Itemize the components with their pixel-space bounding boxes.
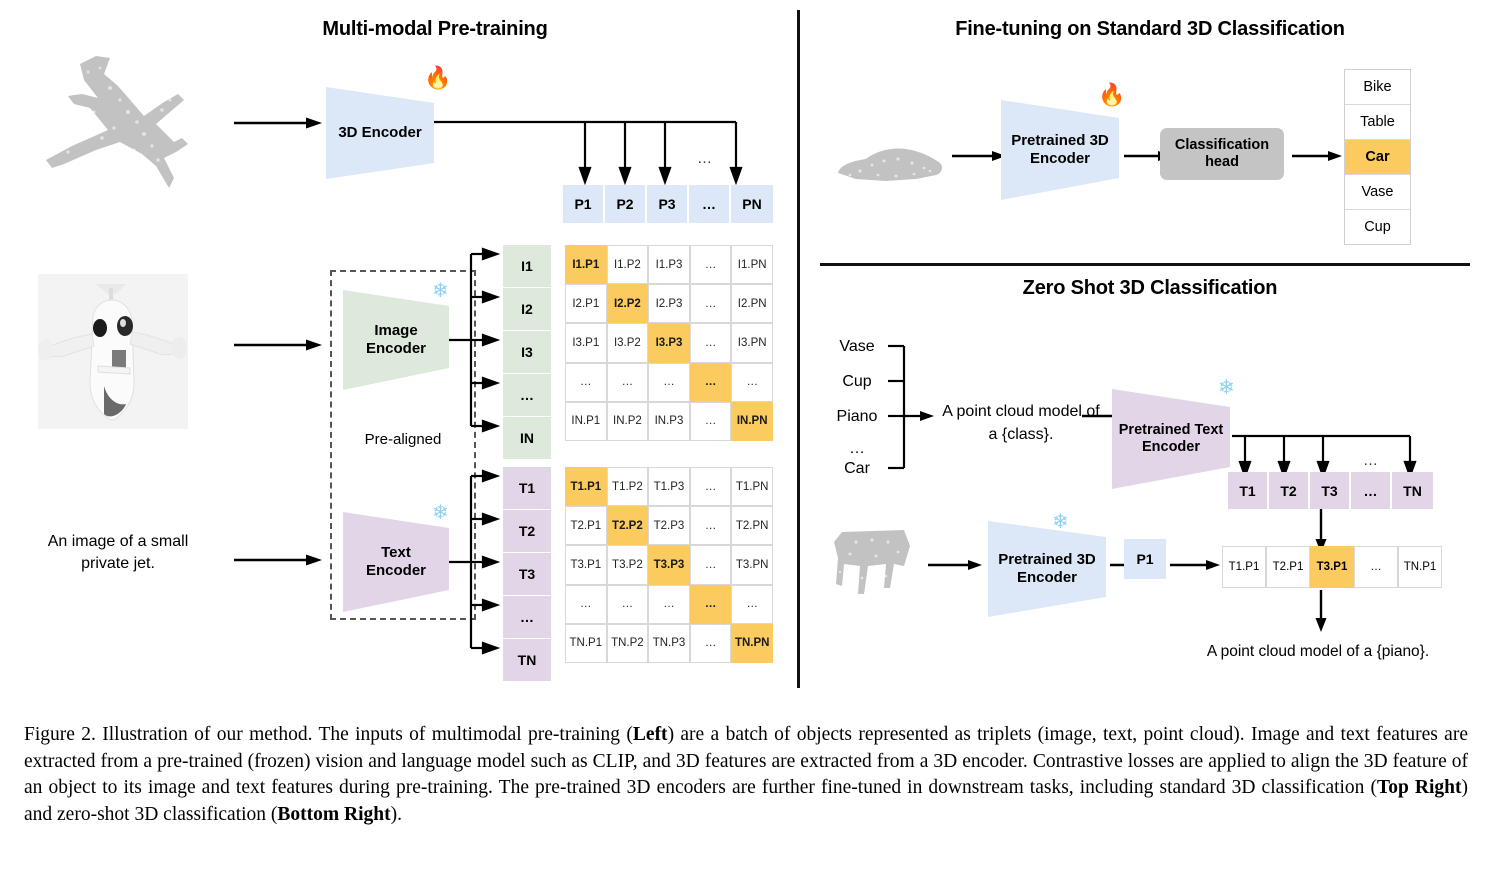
encoder-text-label-line2: Encoder	[366, 562, 426, 580]
text-point-similarity-matrix: T1.P1T1.P2T1.P3…T1.PNT2.P1T2.P2T2.P3…T2.…	[565, 467, 773, 663]
token-label-cell: T3	[503, 553, 551, 596]
matrix-cell: IN.P2	[607, 402, 649, 441]
class-list-item[interactable]: Table	[1345, 105, 1410, 140]
zeroshot-class-label: Piano	[826, 408, 888, 426]
token-label-cell: I2	[503, 288, 551, 331]
matrix-cell: I2.P2	[607, 284, 649, 323]
matrix-cell: I3.P1	[565, 323, 607, 362]
matrix-cell: …	[690, 363, 732, 402]
text-token-column: T1T2T3…TN	[503, 467, 551, 682]
score-cell: T1.P1	[1222, 546, 1266, 588]
zeroshot-class-label: Cup	[826, 373, 888, 391]
image-point-similarity-matrix: I1.P1I1.P2I1.P3…I1.PNI2.P1I2.P2I2.P3…I2.…	[565, 245, 773, 441]
figure-caption: Figure 2. Illustration of our method. Th…	[24, 722, 1468, 828]
classification-head-line1: Classification	[1175, 137, 1269, 154]
token-cell: T1	[1228, 472, 1269, 509]
zeroshot-class-label: Car	[826, 460, 888, 478]
flame-icon: 🔥	[424, 67, 451, 89]
arrow-head-to-classes	[1292, 148, 1344, 164]
matrix-cell: …	[690, 402, 732, 441]
classification-head: Classification head	[1160, 128, 1284, 180]
airplane-point-cloud	[24, 42, 224, 222]
matrix-cell: …	[731, 585, 773, 624]
matrix-cell: …	[565, 363, 607, 402]
encoder-image: Image Encoder	[343, 290, 449, 390]
matrix-cell: T1.P2	[607, 467, 649, 506]
matrix-cell: …	[690, 624, 732, 663]
score-cell: T3.P1	[1310, 546, 1354, 588]
token-cell: …	[689, 185, 731, 223]
matrix-cell: IN.PN	[731, 402, 773, 441]
matrix-cell: I1.P2	[607, 245, 649, 284]
matrix-cell: TN.PN	[731, 624, 773, 663]
pointcloud-token-row: P1P2P3…PN	[563, 185, 773, 223]
matrix-cell: T2.P2	[607, 506, 649, 545]
text-encoder-zs-line1: Pretrained Text	[1119, 422, 1224, 439]
matrix-cell: …	[690, 545, 732, 584]
matrix-cell: I3.PN	[731, 323, 773, 362]
text-input-caption: An image of a small private jet.	[28, 531, 208, 575]
caption-part-4: ).	[391, 804, 402, 825]
matrix-cell: I2.PN	[731, 284, 773, 323]
matrix-cell: …	[690, 245, 732, 284]
token-label-cell: T2	[503, 510, 551, 553]
matrix-cell: …	[690, 506, 732, 545]
matrix-cell: TN.P1	[565, 624, 607, 663]
caption-bold-bottom-right: Bottom Right	[277, 804, 390, 825]
token-cell: T2	[1269, 472, 1310, 509]
zeroshot-point-token: P1	[1124, 539, 1166, 579]
text-token-bus	[449, 470, 509, 642]
caption-part-1: Figure 2. Illustration of our method. Th…	[24, 724, 633, 745]
arrow-text-to-encoder	[234, 552, 324, 568]
matrix-cell: T1.P1	[565, 467, 607, 506]
matrix-cell: …	[690, 585, 732, 624]
prealigned-label: Pre-aligned	[342, 431, 464, 448]
caption-bold-left: Left	[633, 724, 668, 745]
zeroshot-result-text: A point cloud model of a {piano}.	[1158, 643, 1478, 661]
encoder-image-label-line1: Image	[366, 322, 426, 340]
token-label-cell: TN	[503, 639, 551, 682]
matrix-cell: T3.P3	[648, 545, 690, 584]
token-label-cell: IN	[503, 417, 551, 460]
arrow-p1-to-scores	[1170, 557, 1222, 573]
zeroshot-point-token-label: P1	[1136, 551, 1153, 567]
token-cell: …	[1351, 472, 1392, 509]
token-cell: TN	[1392, 472, 1433, 509]
matrix-cell: I3.P2	[607, 323, 649, 362]
matrix-cell: TN.P3	[648, 624, 690, 663]
left-panel-title: Multi-modal Pre-training	[210, 18, 660, 41]
matrix-cell: T2.P1	[565, 506, 607, 545]
arrow-car-to-encoder	[952, 148, 1008, 164]
zeroshot-score-row: T1.P1T2.P1T3.P1…TN.P1	[1222, 546, 1442, 588]
matrix-cell: IN.P3	[648, 402, 690, 441]
class-list-item[interactable]: Cup	[1345, 210, 1410, 244]
encoder-3d: 3D Encoder	[326, 87, 434, 179]
matrix-cell: T3.PN	[731, 545, 773, 584]
token-label-cell: …	[503, 596, 551, 639]
text-input-line2: private jet.	[28, 553, 208, 575]
image-token-bus	[449, 248, 509, 418]
figure-canvas: Multi-modal Pre-training 3D Encoder 🔥	[0, 0, 1490, 888]
arrow-pointcloud-to-encoder	[234, 115, 324, 131]
matrix-cell: …	[607, 363, 649, 402]
bottom-right-panel-title: Zero Shot 3D Classification	[850, 277, 1450, 300]
encoder-3d-label: 3D Encoder	[338, 124, 421, 141]
matrix-cell: …	[648, 585, 690, 624]
matrix-cell: …	[690, 467, 732, 506]
matrix-cell: IN.P1	[565, 402, 607, 441]
matrix-cell: I1.PN	[731, 245, 773, 284]
score-cell: TN.P1	[1398, 546, 1442, 588]
matrix-cell: …	[607, 585, 649, 624]
encoder-pretrained-3d-finetune: Pretrained 3D Encoder	[1001, 100, 1119, 200]
pointcloud-bus-ellipsis: …	[697, 150, 712, 167]
matrix-cell: T2.P3	[648, 506, 690, 545]
encoder-text: Text Encoder	[343, 512, 449, 612]
prompt-line2: a {class}.	[926, 423, 1116, 446]
token-label-cell: T1	[503, 467, 551, 510]
encoder-pretrained-text: Pretrained Text Encoder	[1112, 389, 1230, 489]
caption-bold-top-right: Top Right	[1377, 777, 1461, 798]
zeroshot-class-list: VaseCupPiano…Car	[826, 336, 888, 476]
matrix-cell: …	[690, 323, 732, 362]
matrix-cell: T3.P2	[607, 545, 649, 584]
matrix-cell: I1.P3	[648, 245, 690, 284]
panel-divider-horizontal	[820, 263, 1470, 266]
token-label-cell: I3	[503, 331, 551, 374]
zeroshot-class-label: Vase	[826, 338, 888, 356]
arrow-scores-to-result	[1313, 590, 1329, 634]
matrix-cell: T2.PN	[731, 506, 773, 545]
finetune-encoder-line1: Pretrained 3D	[1011, 132, 1109, 150]
class-list-item[interactable]: Bike	[1345, 70, 1410, 105]
jet-reference-image	[38, 274, 188, 429]
zeroshot-class-label: …	[826, 440, 888, 458]
arrow-image-to-encoder	[234, 337, 324, 353]
score-cell: …	[1354, 546, 1398, 588]
class-list-item[interactable]: Vase	[1345, 175, 1410, 210]
token-cell: P1	[563, 185, 605, 223]
piano-point-cloud	[828, 522, 920, 600]
zs-3d-encoder-line1: Pretrained 3D	[998, 551, 1096, 569]
token-cell: T3	[1310, 472, 1351, 509]
score-cell: T2.P1	[1266, 546, 1310, 588]
matrix-cell: T3.P1	[565, 545, 607, 584]
matrix-cell: …	[731, 363, 773, 402]
arrow-piano-to-encoder	[928, 557, 984, 573]
matrix-cell: …	[648, 363, 690, 402]
matrix-cell: T1.P3	[648, 467, 690, 506]
encoder-image-label-line2: Encoder	[366, 340, 426, 358]
matrix-cell: I2.P1	[565, 284, 607, 323]
finetune-encoder-line2: Encoder	[1011, 150, 1109, 168]
token-cell: PN	[731, 185, 773, 223]
token-label-cell: I1	[503, 245, 551, 288]
matrix-cell: I1.P1	[565, 245, 607, 284]
pointcloud-token-bus	[430, 118, 770, 188]
matrix-cell: …	[690, 284, 732, 323]
encoder-text-label-line1: Text	[366, 544, 426, 562]
token-cell: P3	[647, 185, 689, 223]
matrix-cell: I2.P3	[648, 284, 690, 323]
top-right-panel-title: Fine-tuning on Standard 3D Classificatio…	[850, 18, 1450, 41]
token-cell: P2	[605, 185, 647, 223]
image-token-column: I1I2I3…IN	[503, 245, 551, 460]
matrix-cell: I3.P3	[648, 323, 690, 362]
matrix-cell: TN.P2	[607, 624, 649, 663]
text-encoder-zs-line2: Encoder	[1119, 439, 1224, 456]
zeroshot-bus-ellipsis: …	[1363, 452, 1378, 469]
encoder-pretrained-3d-zeroshot: Pretrained 3D Encoder	[988, 521, 1106, 617]
matrix-cell: T1.PN	[731, 467, 773, 506]
token-label-cell: …	[503, 374, 551, 417]
zs-3d-encoder-line2: Encoder	[998, 569, 1096, 587]
text-input-line1: An image of a small	[28, 531, 208, 553]
classification-head-line2: head	[1175, 154, 1269, 171]
zeroshot-text-token-row: T1T2T3…TN	[1228, 472, 1433, 509]
car-point-cloud	[826, 135, 946, 193]
class-list-item[interactable]: Car	[1345, 140, 1410, 175]
classification-class-list[interactable]: BikeTableCarVaseCup	[1344, 69, 1411, 245]
panel-divider-vertical	[797, 10, 800, 688]
matrix-cell: …	[565, 585, 607, 624]
